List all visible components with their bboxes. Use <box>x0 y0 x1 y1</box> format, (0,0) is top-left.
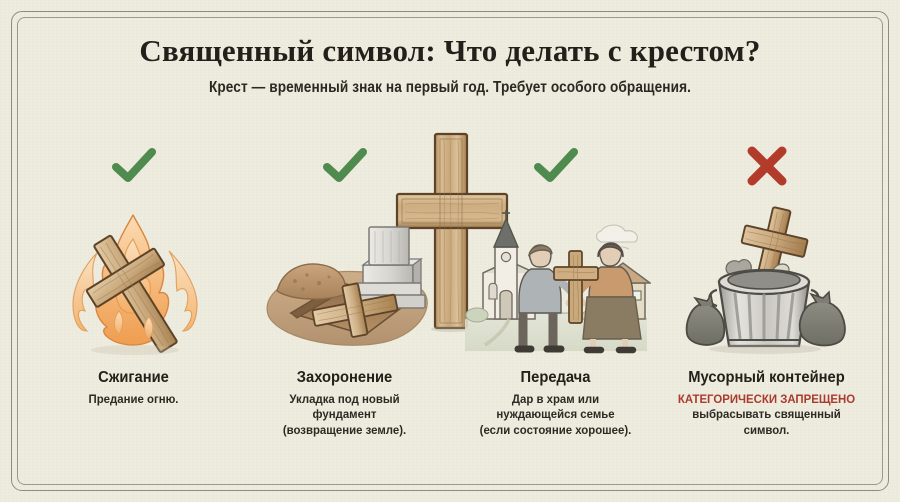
page-subtitle: Крест — временный знак на первый год. Тр… <box>54 79 846 97</box>
caption-body: Укладка под новый фундамент (возвращение… <box>247 392 441 439</box>
trash-bin-illustration <box>661 192 872 357</box>
caption-line: Укладка под новый <box>289 392 399 406</box>
option-column-handover[interactable]: Передача Дар в храм или нуждающейся семь… <box>450 140 661 480</box>
caption-body: КАТЕГОРИЧЕСКИ ЗАПРЕЩЕНО выбрасывать свящ… <box>669 392 863 439</box>
caption-body: Дар в храм или нуждающейся семье (если с… <box>458 392 652 439</box>
option-column-burial[interactable]: Захоронение Укладка под новый фундамент … <box>239 140 450 480</box>
caption-title: Сжигание <box>33 369 233 387</box>
caption-line: символ. <box>744 423 790 437</box>
grave-burial-illustration <box>239 192 450 357</box>
check-icon <box>111 140 157 192</box>
option-column-burning[interactable]: Сжигание Предание огню. <box>28 140 239 480</box>
caption-line: Предание огню. <box>89 392 179 406</box>
caption-line: фундамент <box>313 407 377 421</box>
caption-line: Дар в храм или <box>512 392 599 406</box>
burning-cross-illustration <box>28 192 239 357</box>
header: Священный символ: Что делать с крестом? … <box>0 34 900 97</box>
caption-handover: Передача Дар в храм или нуждающейся семь… <box>450 369 661 439</box>
cross-handover-illustration <box>450 192 661 357</box>
warning-text: КАТЕГОРИЧЕСКИ ЗАПРЕЩЕНО <box>669 392 863 408</box>
caption-burning: Сжигание Предание огню. <box>28 369 239 407</box>
caption-burial: Захоронение Укладка под новый фундамент … <box>239 369 450 439</box>
option-column-trash[interactable]: Мусорный контейнер КАТЕГОРИЧЕСКИ ЗАПРЕЩЕ… <box>661 140 872 480</box>
page-title: Священный символ: Что делать с крестом? <box>0 34 900 68</box>
check-icon <box>322 140 368 192</box>
caption-body: Предание огню. <box>36 392 230 408</box>
caption-trash: Мусорный контейнер КАТЕГОРИЧЕСКИ ЗАПРЕЩЕ… <box>661 369 872 439</box>
caption-title: Мусорный контейнер <box>666 369 866 387</box>
caption-title: Захоронение <box>244 369 444 387</box>
options-row: Сжигание Предание огню. <box>28 140 872 480</box>
infographic-page: Священный символ: Что делать с крестом? … <box>0 0 900 502</box>
caption-line: (возвращение земле). <box>283 423 406 437</box>
caption-line: нуждающейся семье <box>496 407 614 421</box>
caption-title: Передача <box>455 369 655 387</box>
caption-line: (если состояние хорошее). <box>480 423 632 437</box>
check-icon <box>533 140 579 192</box>
caption-line: выбрасывать священный <box>692 407 840 421</box>
cross-x-icon <box>745 140 789 192</box>
